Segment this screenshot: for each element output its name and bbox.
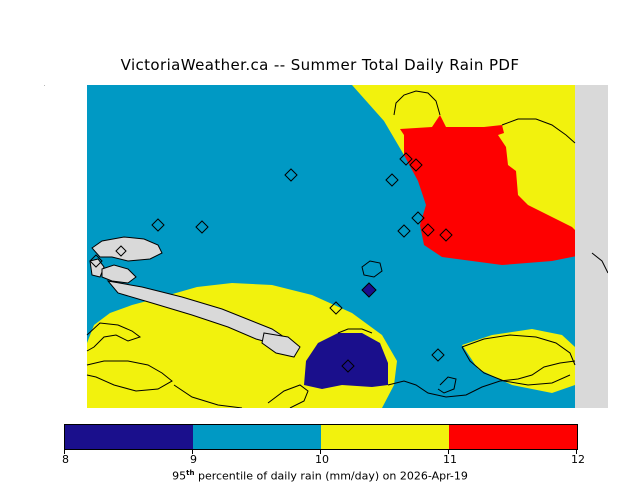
page-title: VictoriaWeather.ca -- Summer Total Daily… xyxy=(0,56,640,74)
caption-suffix: percentile of daily rain (mm/day) on 202… xyxy=(194,470,467,483)
colorbar-area: 8 9 10 11 12 95th percentile of daily ra… xyxy=(0,415,640,480)
colorbar-tick-label-0: 8 xyxy=(62,453,69,466)
colorbar-tick-label-3: 11 xyxy=(443,453,457,466)
colorbar-band-9-10 xyxy=(193,425,321,449)
caption-prefix: 95 xyxy=(172,470,186,483)
colorbar-band-8-9 xyxy=(65,425,193,449)
map-ocean-west xyxy=(32,85,87,408)
colorbar-tick-label-1: 9 xyxy=(190,453,197,466)
contour-map xyxy=(32,85,608,408)
colorbar-band-11-12 xyxy=(449,425,577,449)
weather-map-figure: VictoriaWeather.ca -- Summer Total Daily… xyxy=(0,0,640,480)
colorbar-tick-label-4: 12 xyxy=(571,453,585,466)
colorbar-band-10-11 xyxy=(321,425,449,449)
map-panel xyxy=(32,85,608,408)
colorbar-tick-label-2: 10 xyxy=(315,453,329,466)
colorbar-caption: 95th percentile of daily rain (mm/day) o… xyxy=(0,469,640,483)
colorbar xyxy=(64,424,578,450)
contour-bands xyxy=(87,85,592,408)
